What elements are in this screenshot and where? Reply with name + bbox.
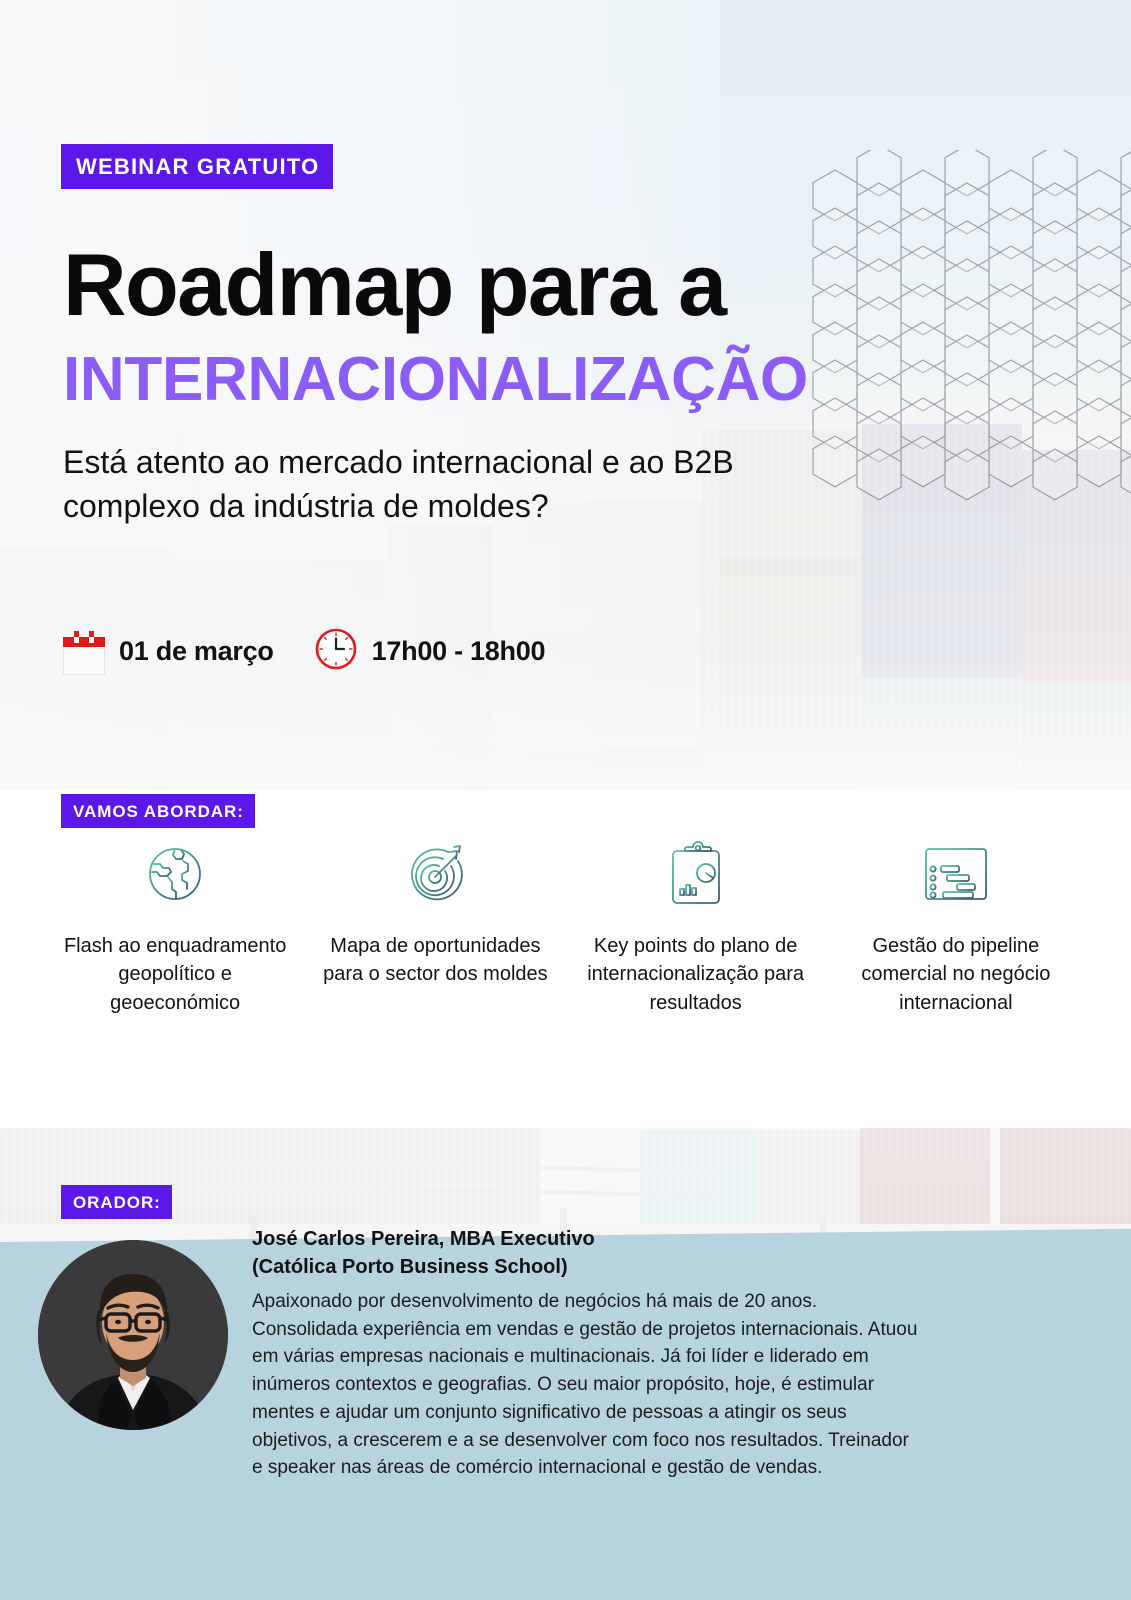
page-title: Roadmap para a <box>63 240 726 330</box>
topic-label: Key points do plano de internacionalizaç… <box>576 932 816 1017</box>
topics-badge: VAMOS ABORDAR: <box>61 794 255 828</box>
event-time-text: 17h00 - 18h00 <box>372 636 546 667</box>
topic-item: Gestão do pipeline comercial no negócio … <box>826 838 1086 1017</box>
target-icon <box>402 838 468 910</box>
hero-section: WEBINAR GRATUITO Roadmap para a INTERNAC… <box>0 0 1131 790</box>
avatar <box>38 1240 228 1430</box>
topics-section: Flash ao enquadramento geopolítico e geo… <box>0 838 1131 1128</box>
event-meta: 01 de março 1 <box>63 627 545 676</box>
topic-item: Mapa de oportunidades para o sector dos … <box>305 838 565 989</box>
speaker-badge: ORADOR: <box>61 1185 172 1219</box>
globe-icon <box>142 838 208 910</box>
topic-label: Flash ao enquadramento geopolítico e geo… <box>55 932 295 1017</box>
gantt-board-icon <box>921 838 991 910</box>
page-subtitle: INTERNACIONALIZAÇÃO <box>63 348 808 411</box>
speaker-name-line2: (Católica Porto Business School) <box>252 1253 942 1281</box>
topic-item: Flash ao enquadramento geopolítico e geo… <box>45 838 305 1017</box>
webinar-poster: WEBINAR GRATUITO Roadmap para a INTERNAC… <box>0 0 1131 1600</box>
hexagon-pattern <box>791 150 1131 590</box>
event-date-text: 01 de março <box>119 636 274 667</box>
event-time: 17h00 - 18h00 <box>314 627 546 676</box>
topic-label: Gestão do pipeline comercial no negócio … <box>836 932 1076 1017</box>
speaker-bio: Apaixonado por desenvolvimento de negóci… <box>252 1288 924 1482</box>
speaker-name: José Carlos Pereira, MBA Executivo (Cató… <box>252 1225 942 1282</box>
clock-icon <box>314 627 358 676</box>
topic-item: Key points do plano de internacionalizaç… <box>566 838 826 1017</box>
speaker-name-line1: José Carlos Pereira, MBA Executivo <box>252 1225 942 1253</box>
event-date: 01 de março <box>63 629 274 675</box>
calendar-icon <box>63 629 105 675</box>
clipboard-chart-icon <box>663 838 729 910</box>
webinar-badge: WEBINAR GRATUITO <box>61 144 333 189</box>
hero-lede: Está atento ao mercado internacional e a… <box>63 440 823 528</box>
topic-label: Mapa de oportunidades para o sector dos … <box>315 932 555 989</box>
